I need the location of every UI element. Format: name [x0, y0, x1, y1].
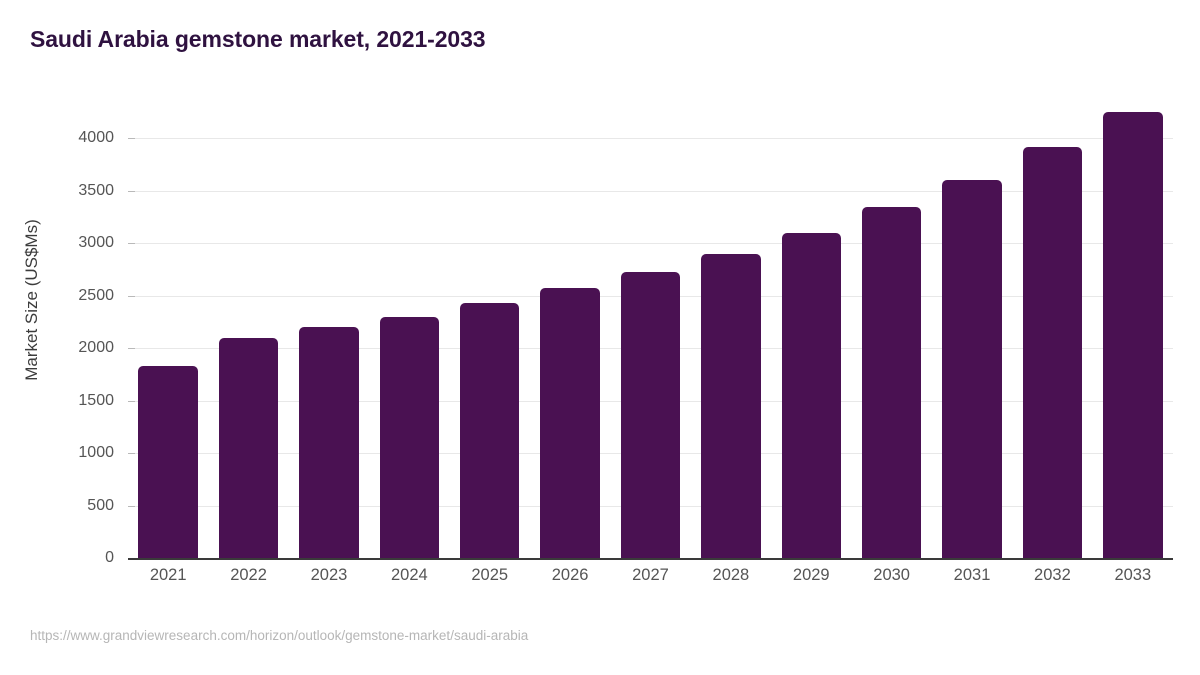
bar-slot: [289, 138, 369, 558]
x-tick-label-2030: 2030: [851, 566, 931, 585]
y-axis-ticks: 05001000150020002500300035004000: [38, 138, 114, 558]
page-title: Saudi Arabia gemstone market, 2021-2033: [30, 26, 485, 53]
bar-series: [128, 138, 1173, 558]
y-tick-label: 0: [38, 549, 114, 567]
source-url[interactable]: https://www.grandviewresearch.com/horizo…: [30, 628, 528, 643]
y-tick-label: 3000: [38, 234, 114, 252]
x-tick-label-2031: 2031: [932, 566, 1012, 585]
bar-slot: [851, 138, 931, 558]
bar-2025[interactable]: [460, 303, 519, 558]
bar-slot: [369, 138, 449, 558]
bar-2023[interactable]: [299, 327, 358, 558]
x-tick-label-2029: 2029: [771, 566, 851, 585]
y-tick-label: 3500: [38, 182, 114, 200]
y-tick-label: 2500: [38, 287, 114, 305]
bar-slot: [530, 138, 610, 558]
bar-slot: [610, 138, 690, 558]
x-axis-line: [128, 558, 1173, 560]
x-tick-label-2028: 2028: [691, 566, 771, 585]
bar-2029[interactable]: [782, 233, 841, 559]
x-tick-label-2023: 2023: [289, 566, 369, 585]
x-tick-label-2024: 2024: [369, 566, 449, 585]
bar-slot: [771, 138, 851, 558]
bar-2032[interactable]: [1023, 147, 1082, 558]
x-tick-label-2026: 2026: [530, 566, 610, 585]
y-tick-label: 1000: [38, 444, 114, 462]
x-axis-ticks: 2021202220232024202520262027202820292030…: [128, 566, 1173, 596]
bar-slot: [208, 138, 288, 558]
bar-2026[interactable]: [540, 288, 599, 558]
y-tick-label: 1500: [38, 392, 114, 410]
x-tick-label-2022: 2022: [208, 566, 288, 585]
x-tick-label-2025: 2025: [450, 566, 530, 585]
bar-2031[interactable]: [942, 180, 1001, 558]
bar-2033[interactable]: [1103, 112, 1162, 558]
chart-card: Saudi Arabia gemstone market, 2021-2033 …: [0, 0, 1200, 675]
x-tick-label-2027: 2027: [610, 566, 690, 585]
bar-slot: [932, 138, 1012, 558]
x-tick-label-2032: 2032: [1012, 566, 1092, 585]
y-tick-label: 2000: [38, 339, 114, 357]
bar-2021[interactable]: [138, 366, 197, 558]
bar-slot: [691, 138, 771, 558]
bar-slot: [1093, 138, 1173, 558]
bar-2022[interactable]: [219, 338, 278, 559]
y-tick-label: 500: [38, 497, 114, 515]
bar-slot: [128, 138, 208, 558]
bar-2024[interactable]: [380, 317, 439, 559]
x-tick-label-2021: 2021: [128, 566, 208, 585]
bar-slot: [450, 138, 530, 558]
bar-2027[interactable]: [621, 272, 680, 558]
bar-slot: [1012, 138, 1092, 558]
y-tick-label: 4000: [38, 129, 114, 147]
bar-2030[interactable]: [862, 207, 921, 558]
x-tick-label-2033: 2033: [1093, 566, 1173, 585]
bar-2028[interactable]: [701, 254, 760, 559]
